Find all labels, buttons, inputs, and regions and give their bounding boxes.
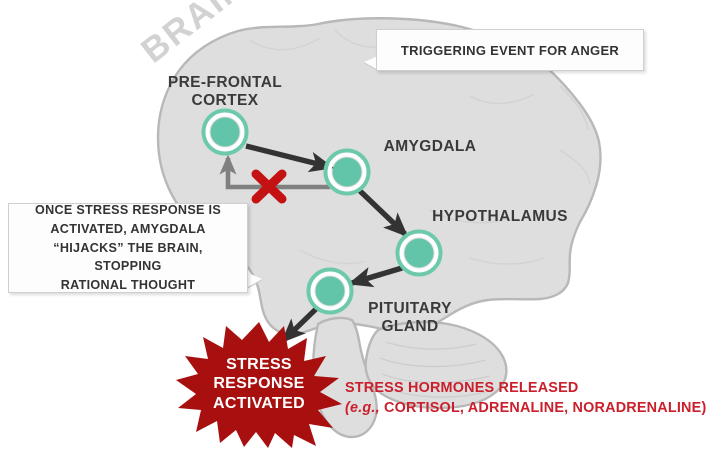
callout-triggering-event: TRIGGERING EVENT FOR ANGER	[376, 29, 644, 71]
callout-left-tail	[246, 272, 262, 288]
node-label-pituitary-gland: PITUITARY GLAND	[368, 300, 452, 337]
callout-left-line: “HIJACKS” THE BRAIN, STOPPING	[19, 239, 237, 276]
starburst-shape	[176, 320, 342, 448]
callout-left-line: ONCE STRESS RESPONSE IS	[35, 201, 221, 220]
stress-response-burst: STRESS RESPONSE ACTIVATED	[176, 320, 342, 448]
callout-amygdala-hijack: ONCE STRESS RESPONSE IS ACTIVATED, AMYGD…	[8, 203, 248, 293]
callout-top-text: TRIGGERING EVENT FOR ANGER	[401, 43, 619, 58]
hormones-list: CORTISOL, ADRENALINE, NORADRENALINE)	[380, 400, 707, 416]
callout-left-line: RATIONAL THOUGHT	[61, 276, 195, 295]
node-label-line: GLAND	[381, 318, 438, 335]
diagram-canvas: BRAIN PRE-FRONTAL CORTEX AMYGDALA HYPOTH…	[0, 0, 720, 450]
node-label-line: PRE-FRONTAL	[168, 74, 282, 91]
node-label-line: PITUITARY	[368, 300, 452, 317]
hormones-line-2: (e.g., CORTISOL, ADRENALINE, NORADRENALI…	[345, 398, 706, 418]
node-label-pre-frontal-cortex: PRE-FRONTAL CORTEX	[168, 74, 282, 111]
hormones-line-1: STRESS HORMONES RELEASED	[345, 378, 706, 398]
node-label-hypothalamus: HYPOTHALAMUS	[432, 208, 568, 226]
node-label-line: HYPOTHALAMUS	[432, 208, 568, 225]
node-label-amygdala: AMYGDALA	[384, 138, 477, 156]
callout-left-line: ACTIVATED, AMYGDALA	[50, 220, 205, 239]
node-label-line: AMYGDALA	[384, 138, 477, 155]
starburst-polygon	[176, 322, 342, 448]
stress-hormones-text: STRESS HORMONES RELEASED (e.g., CORTISOL…	[345, 378, 706, 419]
node-label-line: CORTEX	[191, 92, 258, 109]
hormones-eg-prefix: (e.g.,	[345, 400, 380, 416]
